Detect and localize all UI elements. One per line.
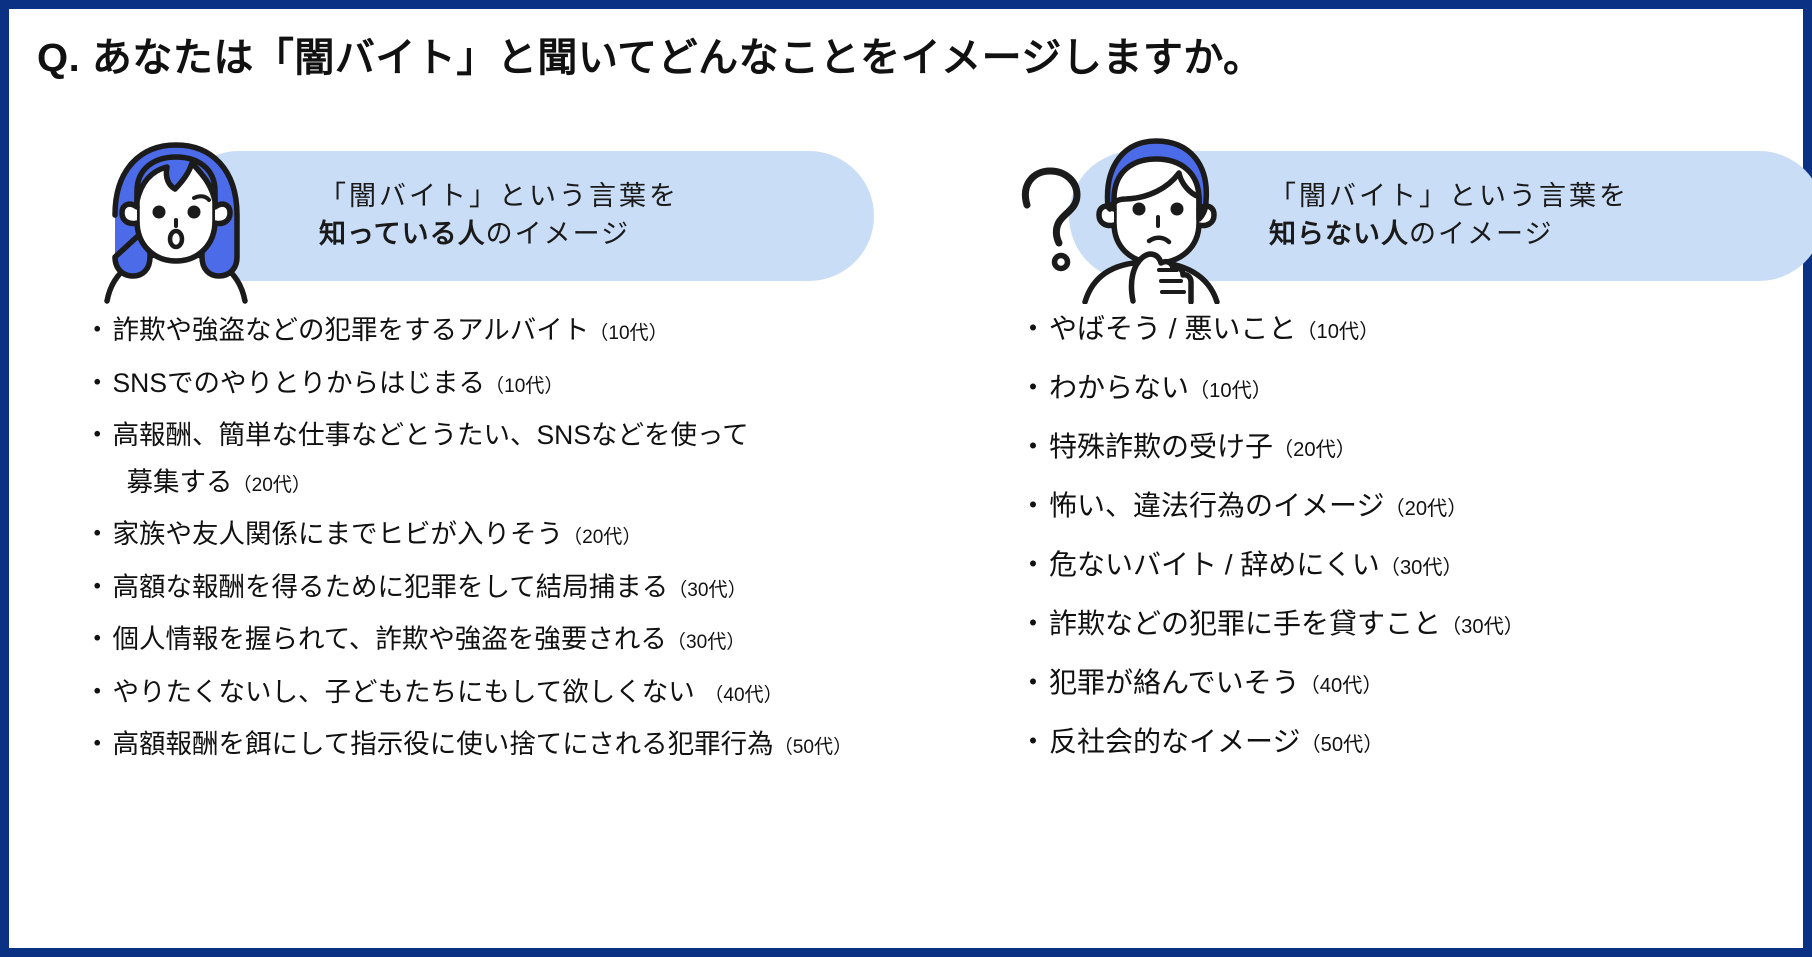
list-item: ・個人情報を握られて、詐欺や強盗を強要される（30代）	[84, 626, 904, 653]
list-item: ・詐欺や強盗などの犯罪をするアルバイト（10代）	[84, 317, 904, 344]
list-item-body: 特殊詐欺の受け子（20代）	[1049, 433, 1799, 461]
right-badge-suffix: のイメージ	[1409, 219, 1553, 249]
list-item-body: 詐欺や強盗などの犯罪をするアルバイト（10代）	[113, 317, 905, 344]
bullet-icon: ・	[84, 574, 111, 601]
left-badge-line1: 「闇バイト」という言葉を	[319, 178, 874, 214]
bullet-icon: ・	[84, 370, 111, 397]
left-badge-suffix: のイメージ	[486, 219, 630, 249]
list-item: ・特殊詐欺の受け子（20代）	[1019, 433, 1799, 461]
bullet-icon: ・	[1019, 433, 1047, 461]
left-badge-line2: 知っている人のイメージ	[319, 215, 874, 254]
list-item-body: わからない（10代）	[1049, 374, 1799, 402]
bullet-icon: ・	[84, 521, 111, 548]
list-item-body: 家族や友人関係にまでヒビが入りそう（20代）	[113, 521, 905, 548]
right-header: 「闇バイト」という言葉を 知らない人のイメージ	[1009, 129, 1789, 304]
bullet-icon: ・	[1019, 551, 1047, 579]
list-item-body: 個人情報を握られて、詐欺や強盗を強要される（30代）	[113, 626, 905, 653]
list-item: ・怖い、違法行為のイメージ（20代）	[1019, 492, 1799, 520]
list-item: ・家族や友人関係にまでヒビが入りそう（20代）	[84, 521, 904, 548]
female-surprised-avatar	[89, 129, 264, 309]
left-list: ・詐欺や強盗などの犯罪をするアルバイト（10代） ・SNSでのやりとりからはじま…	[79, 317, 904, 784]
left-badge: 「闇バイト」という言葉を 知っている人のイメージ	[174, 151, 874, 281]
bullet-icon: ・	[1019, 728, 1047, 756]
bullet-icon: ・	[1019, 315, 1047, 343]
left-header: 「闇バイト」という言葉を 知っている人のイメージ	[79, 129, 899, 304]
list-item-body: 高報酬、簡単な仕事などとうたい、SNSなどを使って募集する（20代）	[113, 422, 905, 495]
list-item: ・SNSでのやりとりからはじまる（10代）	[84, 370, 904, 397]
list-item-body: SNSでのやりとりからはじまる（10代）	[113, 370, 905, 397]
bullet-icon: ・	[84, 731, 111, 758]
list-item: ・反社会的なイメージ（50代）	[1019, 728, 1799, 756]
list-item: ・やりたくないし、子どもたちにもして欲しくない （40代）	[84, 679, 904, 706]
male-thinking-avatar	[1009, 129, 1244, 309]
list-item: ・やばそう / 悪いこと（10代）	[1019, 315, 1799, 343]
list-item: ・危ないバイト / 辞めにくい（30代）	[1019, 551, 1799, 579]
list-item-body: 反社会的なイメージ（50代）	[1049, 728, 1799, 756]
list-item: ・高報酬、簡単な仕事などとうたい、SNSなどを使って募集する（20代）	[84, 422, 904, 495]
list-item-body: 詐欺などの犯罪に手を貸すこと（30代）	[1049, 610, 1799, 638]
bullet-icon: ・	[84, 317, 111, 344]
list-item: ・高額な報酬を得るために犯罪をして結局捕まる（30代）	[84, 574, 904, 601]
page-title: Q. あなたは「闇バイト」と聞いてどんなことをイメージしますか。	[37, 25, 1264, 83]
list-item-body: やばそう / 悪いこと（10代）	[1049, 315, 1799, 343]
list-item: ・高額報酬を餌にして指示役に使い捨てにされる犯罪行為（50代）	[84, 731, 904, 758]
bullet-icon: ・	[84, 679, 111, 706]
question-mark-icon	[1025, 171, 1077, 269]
slide-root: Q. あなたは「闇バイト」と聞いてどんなことをイメージしますか。 「闇バイト」と…	[0, 0, 1812, 957]
list-item: ・詐欺などの犯罪に手を貸すこと（30代）	[1019, 610, 1799, 638]
list-item-body: 怖い、違法行為のイメージ（20代）	[1049, 492, 1799, 520]
bullet-icon: ・	[1019, 610, 1047, 638]
left-badge-emphasis: 知っている人	[319, 219, 486, 249]
list-item-body: 高額報酬を餌にして指示役に使い捨てにされる犯罪行為（50代）	[113, 731, 905, 758]
list-item-body: 犯罪が絡んでいそう（40代）	[1049, 669, 1799, 697]
list-item: ・わからない（10代）	[1019, 374, 1799, 402]
bullet-icon: ・	[84, 422, 111, 449]
list-item-body: やりたくないし、子どもたちにもして欲しくない （40代）	[113, 679, 905, 706]
bullet-icon: ・	[1019, 374, 1047, 402]
bullet-icon: ・	[1019, 492, 1047, 520]
list-item-continuation: 募集する（20代）	[113, 469, 905, 496]
bullet-icon: ・	[84, 626, 111, 653]
list-item-body: 高額な報酬を得るために犯罪をして結局捕まる（30代）	[113, 574, 905, 601]
right-badge-emphasis: 知らない人	[1269, 219, 1409, 249]
list-item: ・犯罪が絡んでいそう（40代）	[1019, 669, 1799, 697]
column-known: 「闇バイト」という言葉を 知っている人のイメージ	[79, 129, 899, 304]
right-badge-line2: 知らない人のイメージ	[1269, 215, 1812, 254]
right-badge-line1: 「闇バイト」という言葉を	[1269, 178, 1812, 214]
bullet-icon: ・	[1019, 669, 1047, 697]
column-unknown: 「闇バイト」という言葉を 知らない人のイメージ	[1009, 129, 1789, 304]
list-item-body: 危ないバイト / 辞めにくい（30代）	[1049, 551, 1799, 579]
right-list: ・やばそう / 悪いこと（10代） ・わからない（10代） ・特殊詐欺の受け子（…	[1009, 315, 1799, 787]
